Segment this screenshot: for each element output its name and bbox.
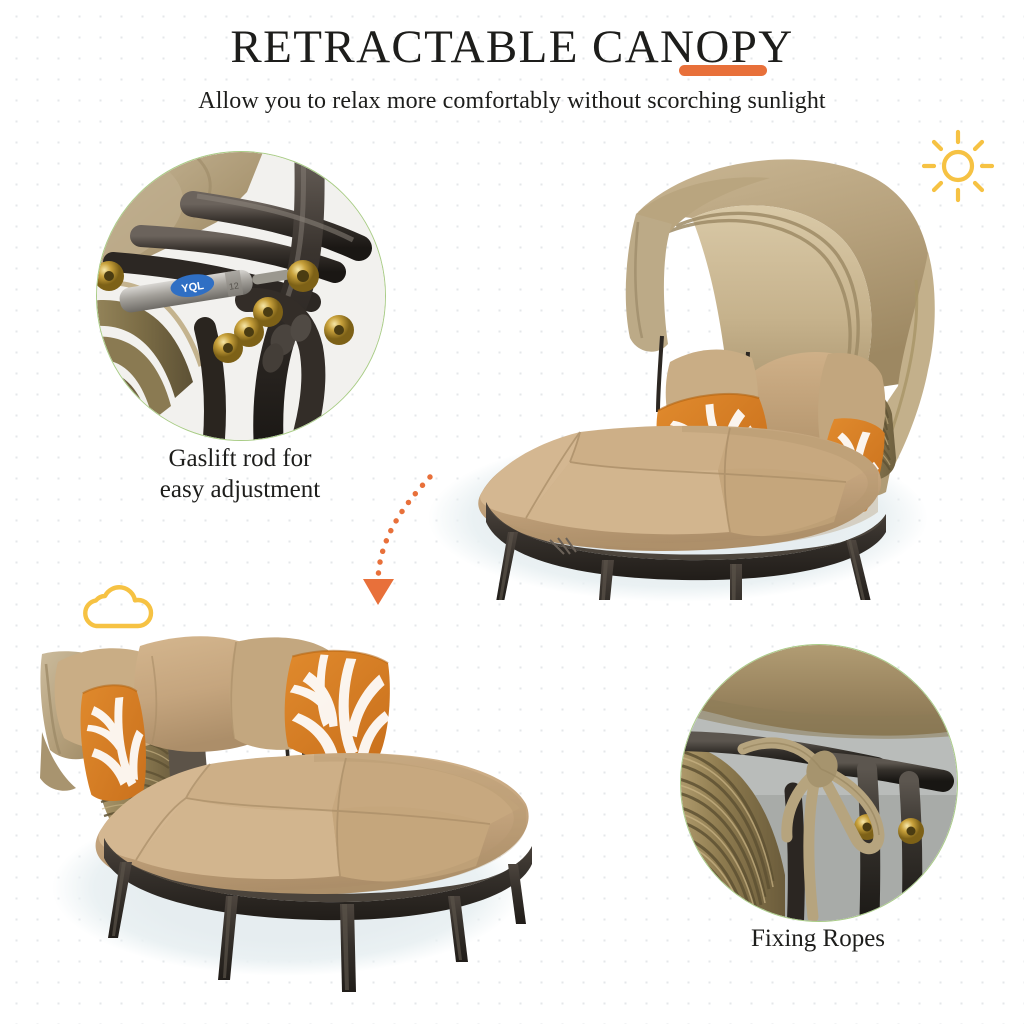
caption-gaslift-line1: Gaslift rod for (60, 444, 420, 475)
caption-fixing-ropes-line1: Fixing Ropes (678, 924, 958, 955)
caption-fixing-ropes: Fixing Ropes (678, 924, 958, 955)
caption-gaslift: Gaslift rod for easy adjustment (60, 444, 420, 505)
product-image-canopy-retracted (40, 612, 570, 1002)
detail-photo-fixing-ropes (680, 644, 958, 922)
caption-gaslift-line2: easy adjustment (60, 475, 420, 506)
product-image-canopy-open (430, 140, 960, 600)
page-header: RETRACTABLE CANOPY (0, 24, 1024, 71)
page-title-text: RETRACTABLE CANOPY (230, 21, 793, 73)
svg-text:12: 12 (228, 280, 239, 291)
page-subtitle: Allow you to relax more comfortably with… (0, 88, 1024, 115)
page-title: RETRACTABLE CANOPY (230, 24, 793, 71)
detail-photo-gaslift-rod: YQL 12 (96, 151, 386, 441)
